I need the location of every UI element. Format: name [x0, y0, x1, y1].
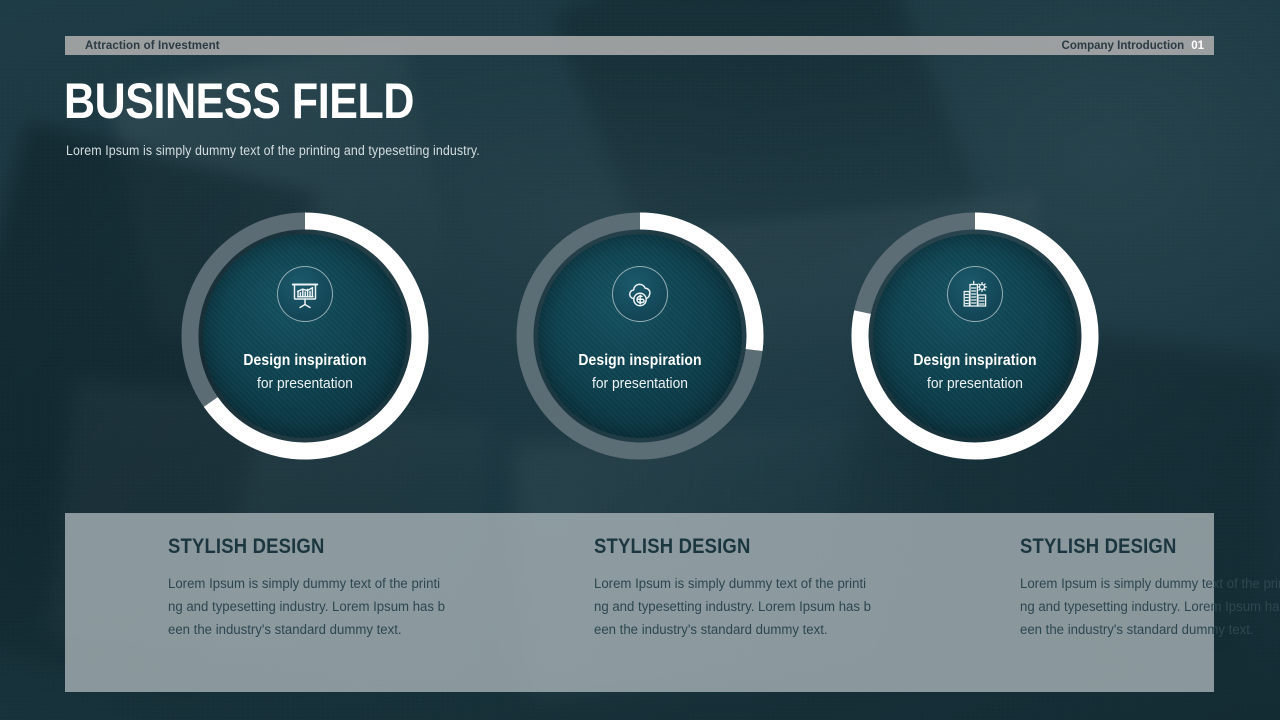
circle-inner-disc-2: [538, 234, 742, 438]
description-column-3: STYLISH DESIGN Lorem Ipsum is simply dum…: [920, 535, 1280, 692]
column-body-3: Lorem Ipsum is simply dummy text of the …: [1020, 573, 1280, 642]
feature-circle-3[interactable]: Design inspiration for presentation: [847, 208, 1103, 464]
column-heading-3: STYLISH DESIGN: [1020, 535, 1280, 559]
slide-header-bar: Attraction of Investment Company Introdu…: [65, 36, 1214, 55]
presentation-chart-icon: [277, 266, 333, 322]
header-chapter-label: Company Introduction: [1062, 40, 1185, 52]
circle-subtitle-2: for presentation: [522, 375, 758, 392]
circle-title-1: Design inspiration: [190, 352, 420, 370]
description-column-1: STYLISH DESIGN Lorem Ipsum is simply dum…: [65, 535, 494, 692]
circle-inner-disc-3: [873, 234, 1077, 438]
description-column-2: STYLISH DESIGN Lorem Ipsum is simply dum…: [494, 535, 920, 692]
feature-circle-2[interactable]: Design inspiration for presentation: [512, 208, 768, 464]
circle-title-2: Design inspiration: [525, 352, 755, 370]
column-body-1: Lorem Ipsum is simply dummy text of the …: [168, 573, 447, 642]
feature-circle-1[interactable]: Design inspiration for presentation: [177, 208, 433, 464]
page-subtitle: Lorem Ipsum is simply dummy text of the …: [66, 143, 480, 158]
column-heading-2: STYLISH DESIGN: [594, 535, 858, 559]
circle-subtitle-3: for presentation: [857, 375, 1093, 392]
description-panel: STYLISH DESIGN Lorem Ipsum is simply dum…: [65, 513, 1214, 692]
circle-title-3: Design inspiration: [860, 352, 1090, 370]
circle-inner-disc-1: [203, 234, 407, 438]
cloud-money-icon: [612, 266, 668, 322]
header-page-number: 01: [1191, 40, 1204, 52]
column-body-2: Lorem Ipsum is simply dummy text of the …: [594, 573, 873, 642]
header-section-label: Attraction of Investment: [85, 40, 220, 52]
header-chapter-group: Company Introduction 01: [1062, 40, 1204, 52]
slide-canvas: Attraction of Investment Company Introdu…: [0, 0, 1280, 720]
city-buildings-sun-icon: [947, 266, 1003, 322]
column-heading-1: STYLISH DESIGN: [168, 535, 432, 559]
page-title: BUSINESS FIELD: [64, 76, 414, 126]
circle-subtitle-1: for presentation: [187, 375, 423, 392]
